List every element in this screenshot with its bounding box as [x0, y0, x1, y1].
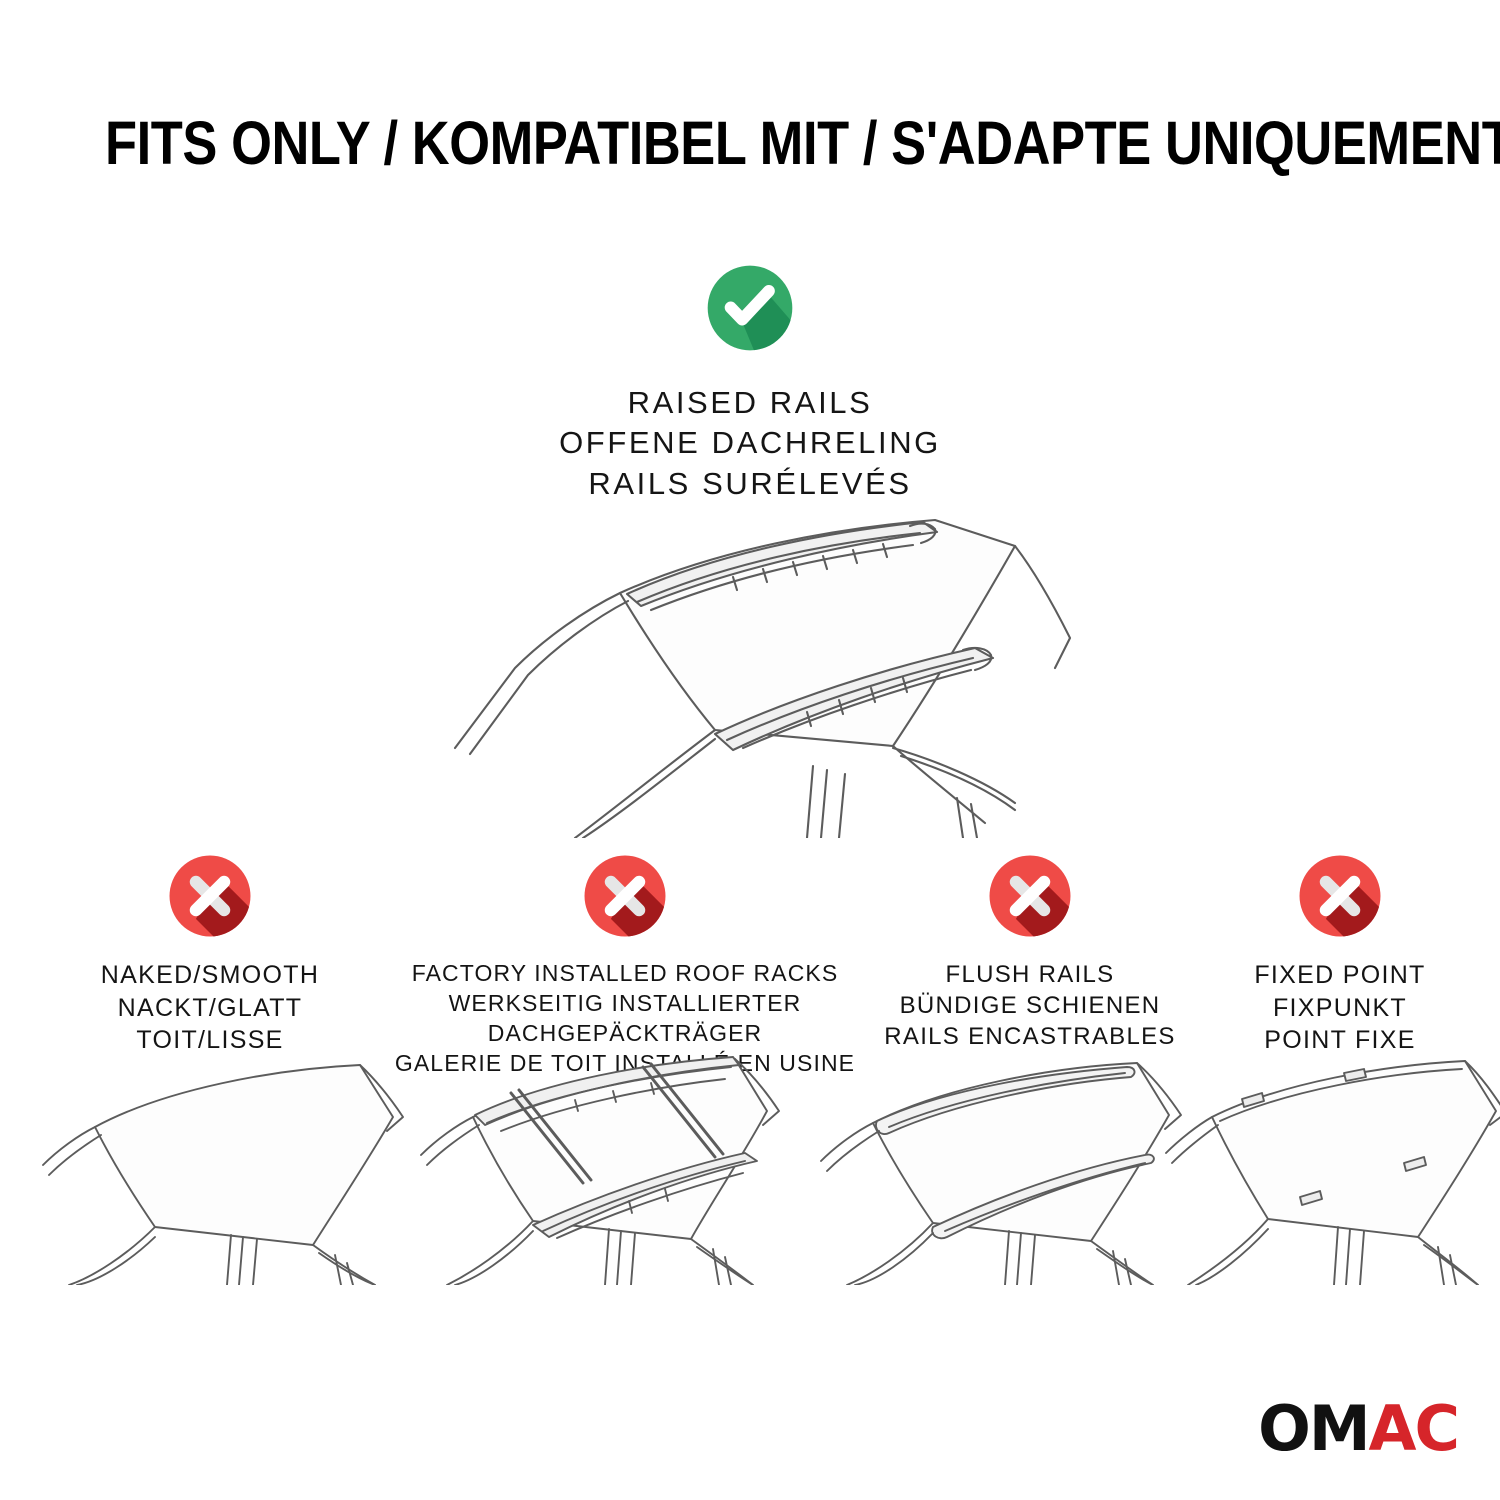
incompatible-label-de: BÜNDIGE SCHIENEN — [865, 990, 1195, 1021]
incompatible-label-en: FIXED POINT — [1195, 959, 1485, 992]
compatible-label-de: OFFENE DACHRELING — [0, 423, 1500, 463]
incompatible-labels: FIXED POINT FIXPUNKT POINT FIXE — [1195, 959, 1485, 1057]
compatible-labels: RAISED RAILS OFFENE DACHRELING RAILS SUR… — [0, 383, 1500, 504]
fixed-point-roof-illustration — [1160, 1055, 1500, 1285]
factory-roof-racks-illustration — [415, 1055, 805, 1285]
incompatible-label-en: FACTORY INSTALLED ROOF RACKS — [390, 959, 860, 989]
incompatible-labels: FLUSH RAILS BÜNDIGE SCHIENEN RAILS ENCAS… — [865, 959, 1195, 1053]
logo-text-ac: AC — [1369, 1398, 1458, 1460]
fitment-guide-page: FITS ONLY / KOMPATIBEL MIT / S'ADAPTE UN… — [0, 0, 1500, 1500]
incompatible-illustrations-row — [0, 1055, 1500, 1295]
incompatible-section: NAKED/SMOOTH NACKT/GLATT TOIT/LISSE — [0, 852, 1500, 1062]
incompatible-labels: NAKED/SMOOTH NACKT/GLATT TOIT/LISSE — [40, 959, 380, 1057]
incompatible-label-de: NACKT/GLATT — [40, 992, 380, 1025]
red-x-circle-icon — [1296, 852, 1384, 940]
page-title: FITS ONLY / KOMPATIBEL MIT / S'ADAPTE UN… — [105, 108, 1395, 178]
incompatible-label-fr: RAILS ENCASTRABLES — [865, 1021, 1195, 1052]
compatible-section: RAISED RAILS OFFENE DACHRELING RAILS SUR… — [0, 262, 1500, 504]
incompatible-option-flush-rails: FLUSH RAILS BÜNDIGE SCHIENEN RAILS ENCAS… — [865, 852, 1195, 1053]
incompatible-label-en: FLUSH RAILS — [865, 959, 1195, 990]
omac-logo: OM AC — [1258, 1400, 1458, 1458]
incompatible-label-en: NAKED/SMOOTH — [40, 959, 380, 992]
logo-text-om: OM — [1258, 1398, 1368, 1460]
red-x-circle-icon — [166, 852, 254, 940]
incompatible-option-factory-roof-racks: FACTORY INSTALLED ROOF RACKS WERKSEITIG … — [390, 852, 860, 1079]
compatible-label-en: RAISED RAILS — [0, 383, 1500, 423]
green-check-circle-icon — [704, 262, 796, 354]
incompatible-label-fr: TOIT/LISSE — [40, 1024, 380, 1057]
incompatible-label-fr: POINT FIXE — [1195, 1024, 1485, 1057]
naked-smooth-roof-illustration — [35, 1055, 425, 1285]
red-x-circle-icon — [581, 852, 669, 940]
red-x-circle-icon — [986, 852, 1074, 940]
flush-rails-illustration — [815, 1055, 1205, 1285]
raised-rails-roof-illustration — [415, 498, 1085, 838]
incompatible-option-naked-smooth: NAKED/SMOOTH NACKT/GLATT TOIT/LISSE — [40, 852, 380, 1057]
incompatible-label-de-1: WERKSEITIG INSTALLIERTER — [390, 989, 860, 1019]
incompatible-label-de: FIXPUNKT — [1195, 992, 1485, 1025]
incompatible-option-fixed-point: FIXED POINT FIXPUNKT POINT FIXE — [1195, 852, 1485, 1057]
incompatible-label-de-2: DACHGEPÄCKTRÄGER — [390, 1019, 860, 1049]
